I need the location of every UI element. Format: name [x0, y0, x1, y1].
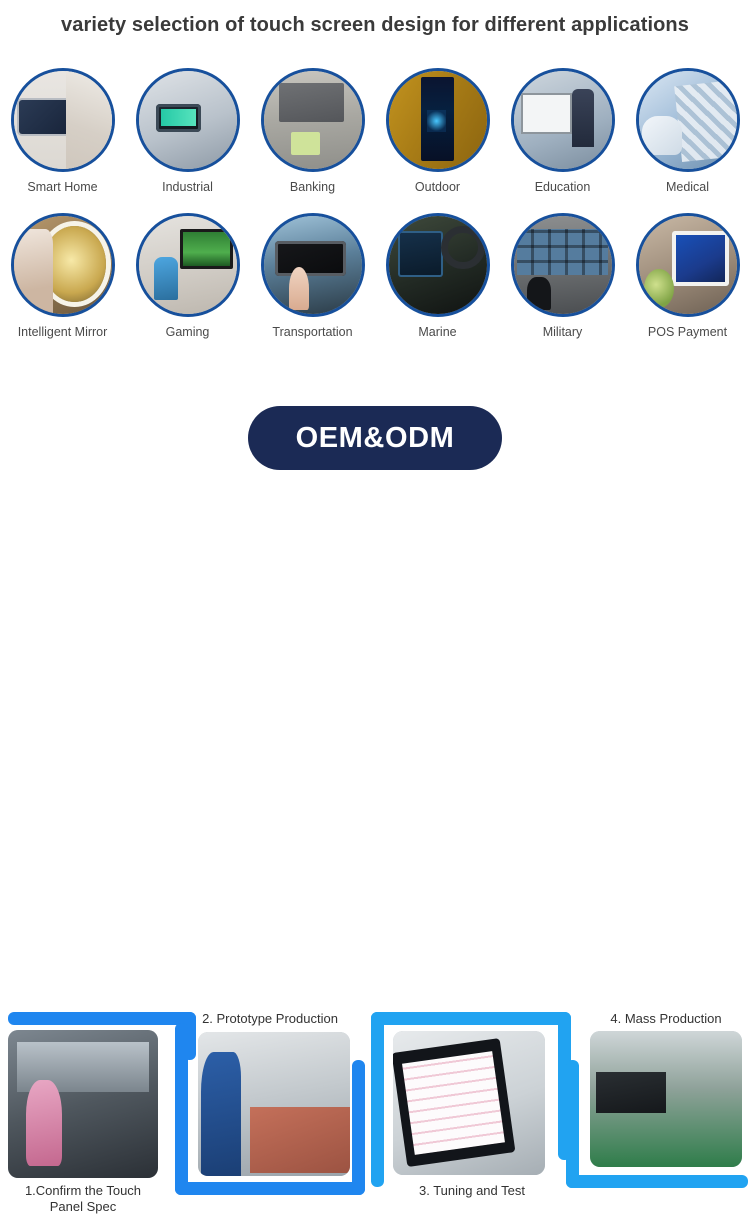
education-icon: [511, 68, 615, 172]
application-item-intelligent-mirror[interactable]: Intelligent Mirror: [0, 213, 125, 340]
application-item-transportation[interactable]: Transportation: [250, 213, 375, 340]
smart-home-icon: [11, 68, 115, 172]
application-item-medical[interactable]: Medical: [625, 68, 750, 195]
application-label: Industrial: [162, 181, 213, 195]
application-item-education[interactable]: Education: [500, 68, 625, 195]
step-3-bracket-top: [371, 1012, 571, 1025]
step-1-label: 1.Confirm the Touch Panel Spec: [4, 1183, 162, 1216]
application-label: POS Payment: [648, 326, 727, 340]
intelligent-mirror-icon: [11, 213, 115, 317]
application-label: Education: [535, 181, 591, 195]
application-item-banking[interactable]: Banking: [250, 68, 375, 195]
application-label: Transportation: [272, 326, 352, 340]
step-4-label: 4. Mass Production: [586, 1011, 746, 1027]
application-item-pos-payment[interactable]: POS Payment: [625, 213, 750, 340]
applications-row-1: Smart Home Industrial Banking Outdoor Ed…: [0, 68, 750, 195]
medical-icon: [636, 68, 740, 172]
military-icon: [511, 213, 615, 317]
applications-row-2: Intelligent Mirror Gaming Transportation…: [0, 213, 750, 340]
application-item-smart-home[interactable]: Smart Home: [0, 68, 125, 195]
application-label: Smart Home: [27, 181, 97, 195]
pos-payment-icon: [636, 213, 740, 317]
step-4-bracket-left: [566, 1060, 579, 1188]
step-2-bracket-left: [175, 1023, 188, 1195]
step-2-label: 2. Prototype Production: [195, 1011, 345, 1027]
step-2-bracket-bottom: [175, 1182, 365, 1195]
step-4-image: [590, 1031, 742, 1167]
application-item-outdoor[interactable]: Outdoor: [375, 68, 500, 195]
marine-icon: [386, 213, 490, 317]
step-2-image: [198, 1032, 350, 1176]
process-flow: 1.Confirm the Touch Panel Spec 2. Protot…: [0, 500, 750, 729]
step-3-bracket-left: [371, 1012, 384, 1187]
application-label: Outdoor: [415, 181, 460, 195]
industrial-icon: [136, 68, 240, 172]
step-4-bracket-bottom: [566, 1175, 748, 1188]
application-label: Intelligent Mirror: [18, 326, 108, 340]
step-1-image: [8, 1030, 158, 1178]
banking-icon: [261, 68, 365, 172]
step-1-bracket-top: [8, 1012, 196, 1025]
oem-odm-label: OEM&ODM: [296, 422, 455, 455]
application-item-marine[interactable]: Marine: [375, 213, 500, 340]
gaming-icon: [136, 213, 240, 317]
application-label: Military: [543, 326, 583, 340]
application-item-military[interactable]: Military: [500, 213, 625, 340]
outdoor-icon: [386, 68, 490, 172]
application-label: Gaming: [166, 326, 210, 340]
step-3-label: 3. Tuning and Test: [372, 1183, 572, 1199]
applications-grid: Smart Home Industrial Banking Outdoor Ed…: [0, 68, 750, 340]
application-label: Marine: [418, 326, 456, 340]
application-item-industrial[interactable]: Industrial: [125, 68, 250, 195]
step-3-image: [393, 1031, 545, 1175]
step-2-bracket-right: [352, 1060, 365, 1195]
page-root: variety selection of touch screen design…: [0, 0, 750, 729]
transportation-icon: [261, 213, 365, 317]
oem-odm-banner[interactable]: OEM&ODM: [248, 406, 502, 470]
application-label: Banking: [290, 181, 335, 195]
page-title: variety selection of touch screen design…: [0, 14, 750, 37]
application-label: Medical: [666, 181, 709, 195]
application-item-gaming[interactable]: Gaming: [125, 213, 250, 340]
